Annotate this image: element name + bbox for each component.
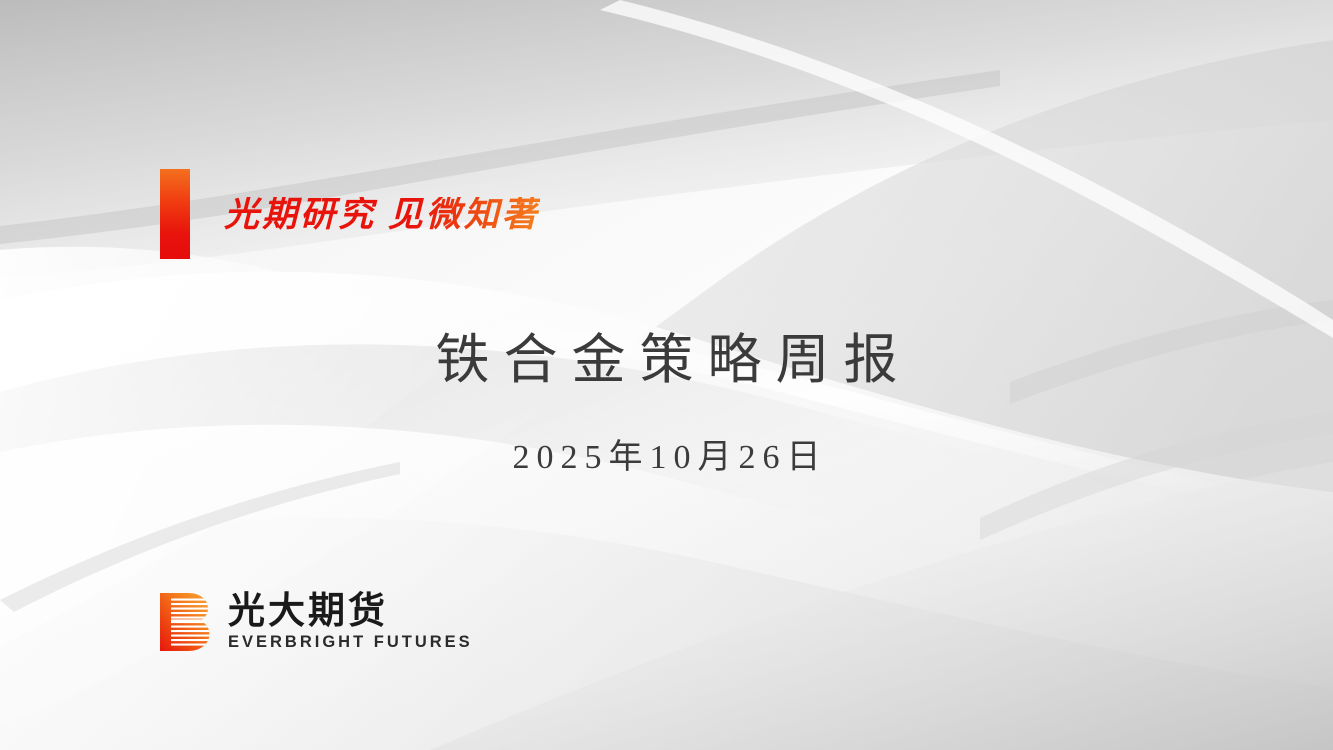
brand-name-cn: 光大期货 [228, 591, 473, 630]
brand-logo: 光大期货 EVERBRIGHT FUTURES [158, 591, 473, 653]
accent-bar [160, 169, 190, 259]
brand-name-en: EVERBRIGHT FUTURES [228, 634, 473, 651]
brand-wordmark: 光大期货 EVERBRIGHT FUTURES [228, 591, 473, 651]
slide-title: 铁合金策略周报 [0, 330, 1333, 390]
tagline-block: 光期研究 见微知著 [160, 168, 540, 260]
slide-date: 2025年10月26日 [0, 438, 1333, 479]
title-slide: 光期研究 见微知著 铁合金策略周报 2025年10月26日 [0, 0, 1333, 750]
everbright-e-mark-icon [158, 591, 210, 653]
tagline-text: 光期研究 见微知著 [224, 197, 540, 232]
